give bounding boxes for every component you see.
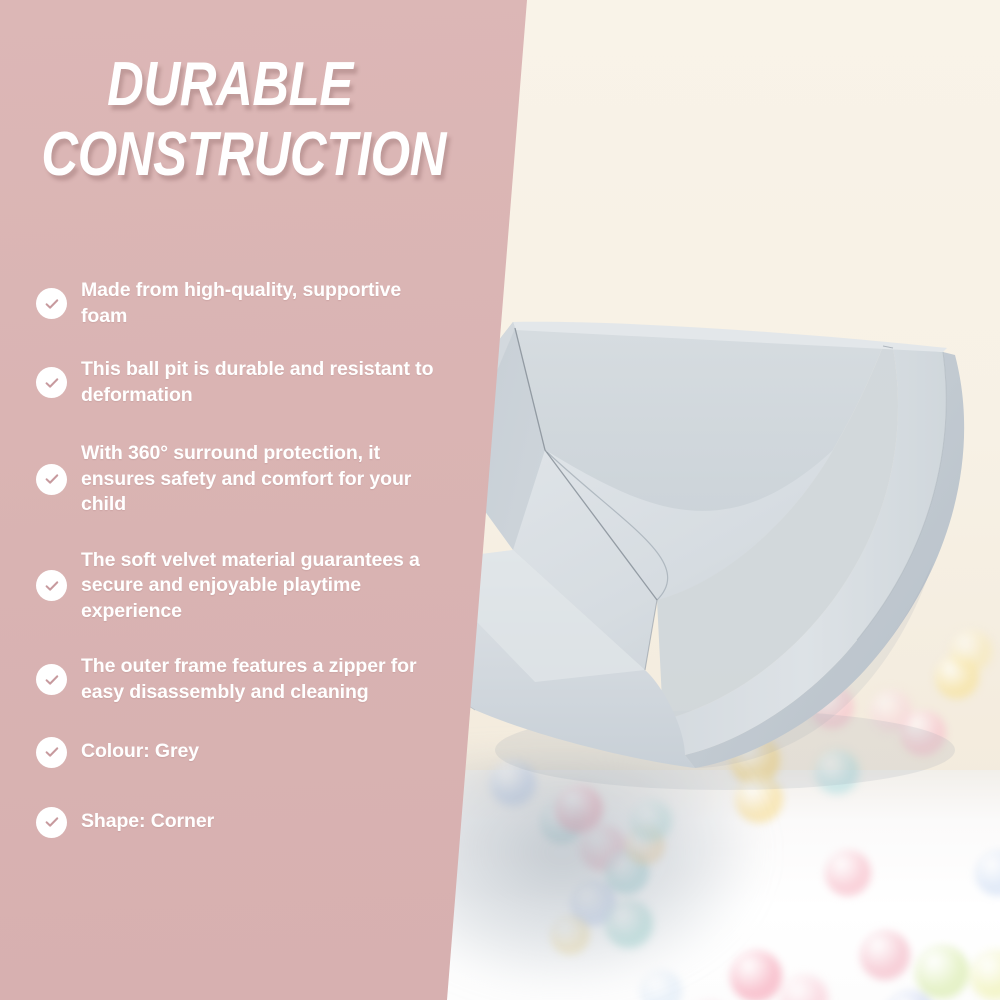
bullet-shape: Shape: Corner (36, 805, 436, 839)
check-circle-icon (36, 367, 67, 398)
check-circle-icon (36, 464, 67, 495)
bullet-colour: Colour: Grey (36, 735, 436, 769)
bullet-zipper: The outer frame features a zipper for ea… (36, 654, 436, 705)
bullet-zipper-label: The outer frame features a zipper for ea… (81, 654, 436, 705)
bullet-durable-label: This ball pit is durable and resistant t… (81, 357, 436, 408)
play-ball (860, 930, 910, 980)
play-ball (825, 850, 871, 896)
bullet-velvet: The soft velvet material guarantees a se… (36, 548, 436, 625)
check-circle-icon (36, 288, 67, 319)
bullet-foam: Made from high-quality, supportive foam (36, 278, 436, 329)
play-ball (780, 975, 828, 1000)
play-ball (970, 950, 1000, 1000)
headline-line-1: DURABLE (41, 52, 418, 118)
bullet-protection-label: With 360° surround protection, it ensure… (81, 441, 436, 518)
bullet-protection: With 360° surround protection, it ensure… (36, 441, 436, 518)
infographic-canvas: DURABLE CONSTRUCTION Made from high-qual… (0, 0, 1000, 1000)
check-circle-icon (36, 570, 67, 601)
bullet-foam-label: Made from high-quality, supportive foam (81, 278, 436, 329)
check-circle-icon (36, 664, 67, 695)
bullet-shape-label: Shape: Corner (81, 809, 214, 835)
bullet-durable: This ball pit is durable and resistant t… (36, 357, 436, 408)
check-circle-icon (36, 807, 67, 838)
play-ball (915, 945, 969, 999)
check-circle-icon (36, 737, 67, 768)
feature-bullet-list: Made from high-quality, supportive foamT… (36, 278, 436, 839)
product-floor-shadow (430, 760, 760, 990)
page-title: DURABLE CONSTRUCTION (0, 52, 460, 190)
bullet-colour-label: Colour: Grey (81, 739, 199, 765)
bullet-velvet-label: The soft velvet material guarantees a se… (81, 548, 436, 625)
headline-line-2: CONSTRUCTION (41, 120, 418, 190)
play-ball (975, 850, 1000, 896)
